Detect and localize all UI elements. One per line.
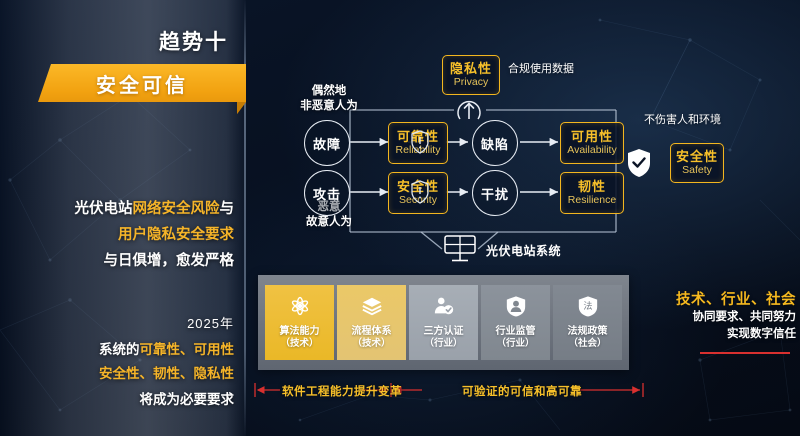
box-privacy: 隐私性 Privacy [442,55,500,95]
box-safety-en: Safety [682,164,712,177]
left-sub-line3: 将成为必要要求 [6,388,234,412]
slide-root: 趋势十 安全可信 光伏电站网络安全风险与 用户隐私安全要求 与日俱增，愈发严格 … [0,0,800,436]
card-regulation-label: 行业监管 [496,326,536,338]
card-policy-label: 法规政策 [568,326,608,338]
warning-shield-icon [411,130,429,154]
box-safety: 安全性 Safety [670,143,724,183]
box-privacy-en: Privacy [454,76,488,89]
left-headline-line2: 用户隐私安全要求 [6,222,234,248]
cause-note-accidental-line2: 非恶意人为 [286,99,372,114]
card-process[interactable]: 流程体系 （技术） [337,285,406,360]
conclusion-underline [700,352,790,354]
conclusion-line2: 实现数字信任 [632,326,796,343]
bottom-arrow-text-1: 软件工程能力提升变革 [282,386,402,398]
bottom-arrow-text-2: 可验证的可信和高可靠 [462,386,582,398]
box-availability-cn: 可用性 [571,129,613,144]
headline-seg-1: 光伏电站 [75,201,133,217]
card-process-label: 流程体系 [352,326,392,338]
card-algorithm[interactable]: 算法能力 （技术） [265,285,334,360]
box-safety-cn: 安全性 [676,149,718,164]
trend-number-label: 趋势十 [0,26,228,56]
left-headline-line1: 光伏电站网络安全风险与 [6,196,234,222]
person-shield-icon [505,295,527,322]
card-policy-sub: （社会） [568,338,606,350]
sub-seg-2: 可靠性、可用性 [140,342,235,357]
card-certification-sub: （行业） [424,338,462,350]
box-resilience-cn: 韧性 [578,179,606,194]
cause-note-accidental: 偶然地 非恶意人为 [286,84,372,114]
atom-icon [289,295,311,322]
capability-card-list: 算法能力 （技术） 流程体系 （技术） [265,285,622,360]
box-resilience: 韧性 Resilience [560,172,624,214]
left-headline-line3: 与日俱增，愈发严格 [6,248,234,274]
banner-title: 安全可信 [38,64,246,102]
sub-seg-1: 系统的 [99,342,140,357]
left-year-label: 2025年 [6,314,234,334]
card-algorithm-sub: （技术） [280,338,318,350]
headline-seg-2: 网络安全风险 [133,201,220,217]
box-availability: 可用性 Availability [560,122,624,164]
system-label: 光伏电站系统 [486,242,561,259]
bottom-arrow-label-2: 可验证的可信和高可靠 [462,382,582,400]
cause-note-malicious-line2: 故意人为 [286,215,372,230]
conclusion-line1: 协同要求、共同努力 [632,309,796,326]
up-arrow-circle-icon [456,98,482,124]
card-regulation[interactable]: 行业监管 （行业） [481,285,550,360]
card-policy[interactable]: 法 法规政策 （社会） [553,285,622,360]
card-algorithm-label: 算法能力 [280,326,320,338]
headline-seg-3: 与 [220,201,235,217]
box-resilience-en: Resilience [568,194,616,207]
bottom-arrow-label-1: 软件工程能力提升变革 [282,382,402,400]
privacy-note: 合规使用数据 [508,62,574,77]
node-interference: 干扰 [472,170,518,216]
card-process-sub: （技术） [352,338,390,350]
person-check-icon [433,295,455,322]
cause-note-accidental-line1: 偶然地 [286,84,372,99]
safety-note: 不伤害人和环境 [644,113,721,128]
card-regulation-sub: （行业） [496,338,534,350]
box-availability-en: Availability [567,144,616,157]
check-shield-icon [627,148,651,178]
left-sub-line1: 系统的可靠性、可用性 [6,338,234,362]
solar-panel-icon [442,234,478,264]
law-shield-icon: 法 [577,295,599,322]
svg-text:法: 法 [583,300,592,312]
layers-icon [361,295,383,322]
card-certification[interactable]: 三方认证 （行业） [409,285,478,360]
left-sub-line2: 安全性、韧性、隐私性 [6,362,234,386]
diagram-area: 偶然地 非恶意人为 恶意 故意人为 故障 攻击 缺陷 干扰 可靠性 Reliab… [246,0,800,272]
warning-shield-icon [411,180,429,204]
node-attack: 攻击 [304,170,350,216]
card-certification-label: 三方认证 [424,326,464,338]
node-defect: 缺陷 [472,120,518,166]
node-fault: 故障 [304,120,350,166]
conclusion-headline: 技术、行业、社会 [632,288,796,309]
conclusion-block: 技术、行业、社会 协同要求、共同努力 实现数字信任 [632,288,796,343]
box-privacy-cn: 隐私性 [450,61,492,76]
